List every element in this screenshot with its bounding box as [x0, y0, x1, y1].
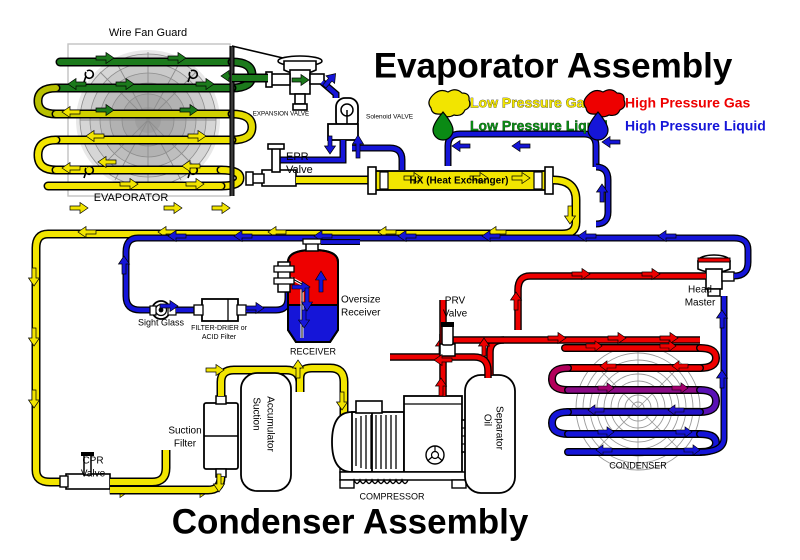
legend-item-high-pressure-gas: High Pressure Gas — [584, 90, 751, 117]
filter-drier — [194, 299, 246, 321]
label-heat-exchanger: HX (Heat Exchanger) — [410, 176, 509, 187]
page-title-bottom: Condenser Assembly — [172, 502, 529, 541]
legend-label-high-pressure-liquid: High Pressure Liquid — [625, 118, 766, 134]
oil-separator — [465, 375, 515, 493]
label-suction-filter-line2: Filter — [174, 439, 197, 450]
legend-label-low-pressure-liquid: Low Pressure Liquid — [470, 118, 608, 134]
legend-label-high-pressure-gas: High Pressure Gas — [625, 95, 750, 111]
label-solenoid-valve: Solenoid VALVE — [366, 114, 414, 121]
label-filter-drier-line1: FILTER-DRIER or — [191, 325, 248, 332]
refrigeration-schematic: Wire Fan Guard EVAPORATOR EXPANSION VALV… — [0, 0, 800, 560]
label-receiver: RECEIVER — [290, 346, 337, 356]
expansion-valve — [266, 56, 324, 110]
label-oversize-receiver-line2: Receiver — [341, 308, 381, 319]
prv-valve — [440, 322, 455, 356]
label-wire-fan-guard: Wire Fan Guard — [109, 27, 187, 39]
label-head-master-line1: Head — [688, 285, 712, 296]
label-expansion-valve: EXPANSION VALVE — [253, 111, 309, 118]
hx-liquid-loop — [340, 134, 596, 170]
label-sight-glass: Sight Glass — [138, 317, 185, 327]
evaporator-out-arrows — [70, 203, 230, 214]
label-epr-valve-line2: Valve — [286, 164, 313, 176]
suction-filter — [204, 396, 238, 477]
gas-blob-icon — [429, 90, 470, 117]
label-oil-separator-line1: Oil — [481, 414, 492, 426]
label-suction-filter-line1: Suction — [168, 426, 201, 437]
label-prv-valve-line2: Valve — [443, 309, 468, 320]
headmaster-red-inlet — [518, 276, 706, 340]
gas-blob-icon — [584, 90, 625, 117]
cpr-to-suction-filter-line — [110, 450, 166, 482]
label-compressor: COMPRESSOR — [359, 491, 425, 501]
legend-item-low-pressure-gas: Low Pressure Gas — [429, 90, 592, 117]
label-cpr-valve-line1: CPR — [82, 456, 103, 467]
diagram-canvas: Wire Fan Guard EVAPORATOR EXPANSION VALV… — [0, 0, 800, 560]
label-prv-valve-line1: PRV — [445, 296, 466, 307]
solenoid-valve — [328, 98, 358, 140]
label-condenser: CONDENSER — [609, 460, 667, 470]
legend-label-low-pressure-gas: Low Pressure Gas — [470, 95, 592, 111]
hx-liquid-loop-right — [596, 167, 660, 224]
page-title-top: Evaporator Assembly — [374, 46, 733, 85]
legend-item-high-pressure-liquid: High Pressure Liquid — [588, 112, 766, 140]
legend: Low Pressure Gas High Pressure Gas Low P… — [429, 90, 766, 140]
label-filter-drier-line2: ACID Filter — [202, 334, 237, 341]
label-suction-accumulator-line2: Accumulator — [264, 396, 275, 452]
label-epr-valve-line1: EPR — [286, 151, 309, 163]
compressor — [332, 396, 474, 488]
label-oversize-receiver-line1: Oversize — [341, 295, 381, 306]
label-suction-accumulator-line1: Suction — [250, 397, 261, 430]
label-head-master-line2: Master — [685, 298, 716, 309]
condenser-flow-arrows — [586, 341, 700, 455]
label-oil-separator-line2: Separator — [493, 406, 504, 451]
label-evaporator: EVAPORATOR — [94, 192, 169, 204]
label-cpr-valve-line2: Valve — [81, 469, 106, 480]
